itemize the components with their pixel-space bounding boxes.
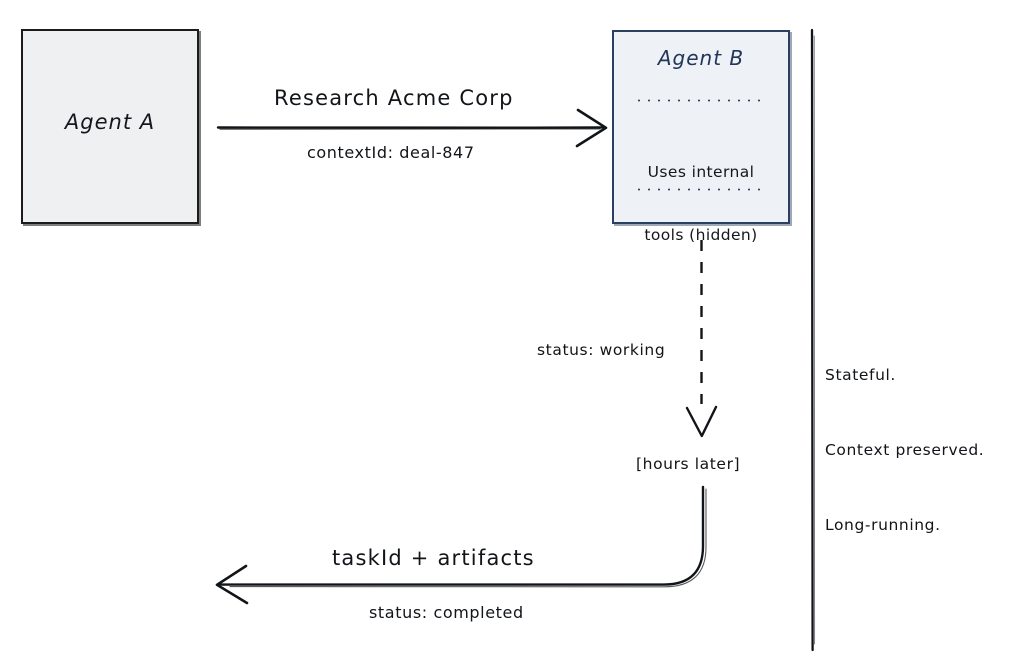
response-arrow-label-above: taskId + artifacts <box>332 546 535 570</box>
agent-b-body-line-1: Uses internal <box>612 162 790 183</box>
diagram-canvas: Agent A Agent B Uses internal tools (hid… <box>0 0 1012 656</box>
side-note: Stateful. Context preserved. Long-runnin… <box>825 313 984 588</box>
request-arrow-label-above: Research Acme Corp <box>274 86 514 110</box>
response-arrow <box>217 487 706 603</box>
agent-b-divider-top <box>634 99 766 102</box>
request-arrow-label-below: contextId: deal-847 <box>307 143 475 162</box>
working-status-label: status: working <box>537 341 665 359</box>
agent-b-body: Uses internal tools (hidden) <box>612 120 790 288</box>
side-note-line-2: Context preserved. <box>825 438 984 463</box>
side-note-line-1: Stateful. <box>825 363 984 388</box>
hours-later-label: [hours later] <box>636 455 740 473</box>
agent-b-title: Agent B <box>612 46 790 70</box>
agent-b-body-line-2: tools (hidden) <box>612 225 790 246</box>
response-arrow-label-below: status: completed <box>369 603 524 622</box>
request-arrow <box>218 110 606 146</box>
agent-a-label: Agent A <box>21 110 199 134</box>
agent-b-divider-bottom <box>634 188 766 191</box>
side-note-line-3: Long-running. <box>825 513 984 538</box>
right-divider-line <box>812 30 815 650</box>
